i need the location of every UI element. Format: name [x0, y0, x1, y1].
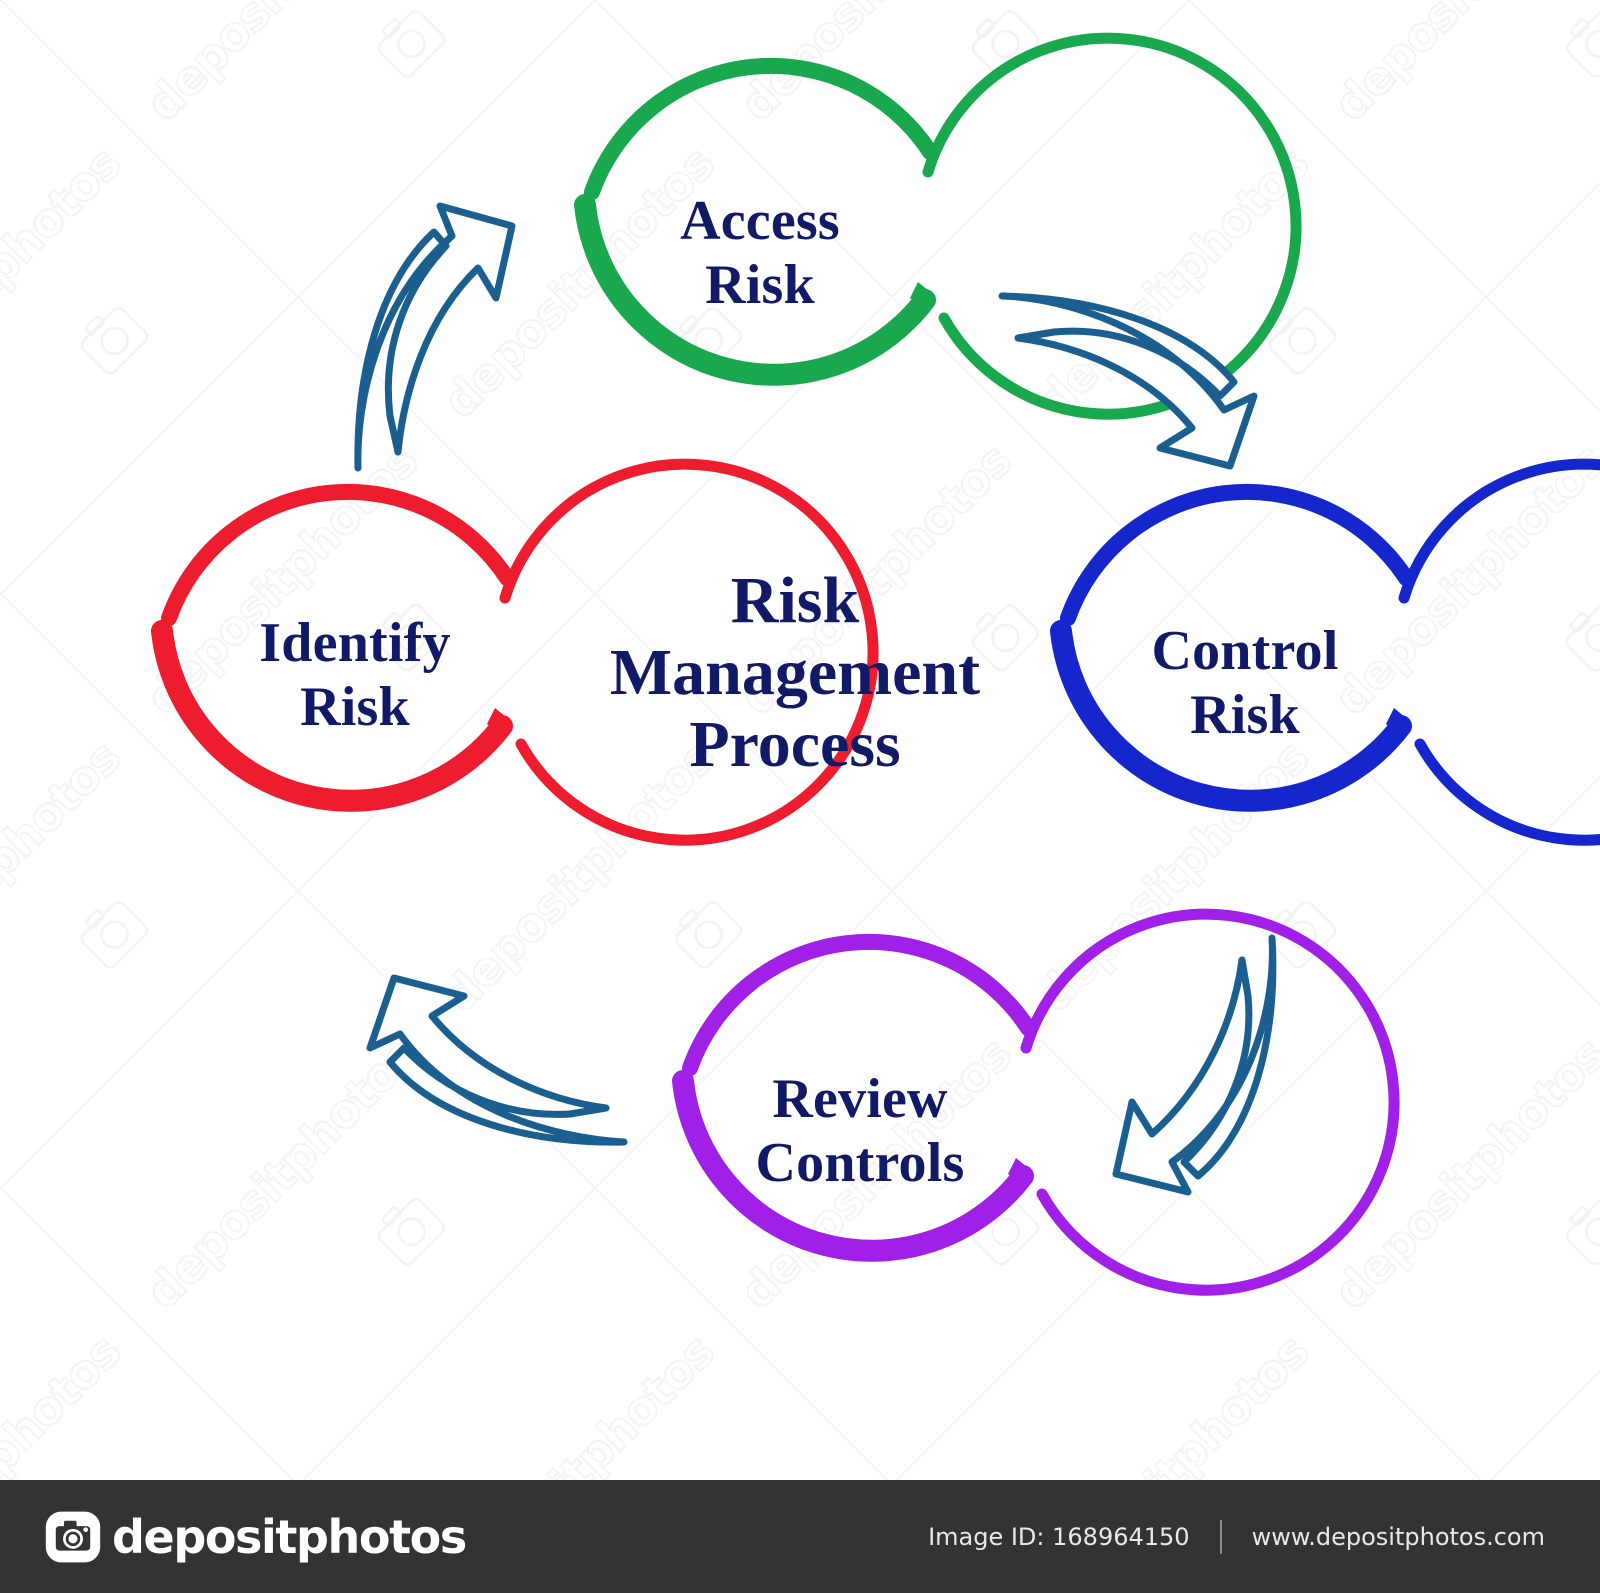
- brand-wordmark: depositphotos: [112, 1510, 466, 1564]
- watermark-footer-bar: depositphotos Image ID: 168964150 www.de…: [0, 1480, 1600, 1593]
- diagram-center-title: Risk Management Process: [545, 565, 1045, 781]
- arrow-control-to-review: [1116, 938, 1273, 1192]
- screenshot-root: depositphotos: [0, 0, 1600, 1593]
- website-link[interactable]: www.depositphotos.com: [1252, 1523, 1545, 1551]
- node-label-review-controls: Review Controls: [660, 1068, 1060, 1196]
- node-label-access-risk: Access Risk: [560, 190, 960, 318]
- image-id-text: Image ID: 168964150: [928, 1523, 1190, 1551]
- arrow-access-to-control: [1002, 296, 1254, 466]
- arrow-identify-to-access: [358, 206, 512, 468]
- depositphotos-logo[interactable]: depositphotos: [44, 1508, 466, 1566]
- node-label-control-risk: Control Risk: [1045, 620, 1445, 748]
- arrow-review-to-identify: [370, 978, 624, 1142]
- footer-meta: Image ID: 168964150 www.depositphotos.co…: [928, 1520, 1545, 1554]
- footer-divider: [1220, 1520, 1222, 1554]
- camera-icon: [44, 1508, 102, 1566]
- node-label-identify-risk: Identify Risk: [150, 612, 560, 740]
